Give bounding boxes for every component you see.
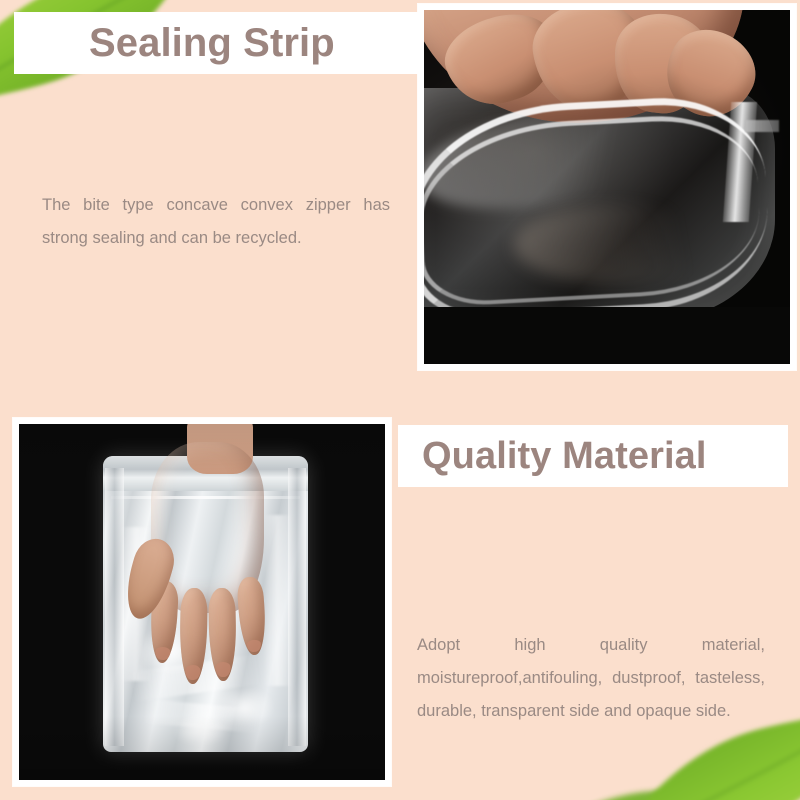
quality-material-title-plate: Quality Material (398, 425, 788, 487)
sealing-strip-description: The bite type concave convex zipper has … (42, 189, 390, 255)
pouch-specular-highlight (173, 716, 226, 746)
zipper-closeup-photo (418, 4, 796, 370)
fingernail-shape (246, 639, 261, 652)
fingernail-shape (155, 646, 170, 660)
sealing-strip-title-plate: Sealing Strip (14, 12, 418, 74)
pouch-crinkle (263, 515, 292, 686)
tear-notch-shape (745, 120, 779, 132)
fingernail-shape (185, 665, 200, 681)
quality-material-description: Adopt high quality material, moisturepro… (417, 629, 765, 728)
photo-bottom-shadow (424, 307, 790, 364)
page-title-sealing-strip: Sealing Strip (89, 23, 335, 63)
page-title-quality-material: Quality Material (422, 437, 707, 475)
hand-on-pouch-photo (13, 418, 391, 786)
fingernail-shape (216, 662, 231, 677)
infographic-page: Sealing Strip The bite type concave conv… (0, 0, 800, 800)
zipper-photo-canvas (424, 10, 790, 364)
hand-photo-canvas (19, 424, 385, 780)
